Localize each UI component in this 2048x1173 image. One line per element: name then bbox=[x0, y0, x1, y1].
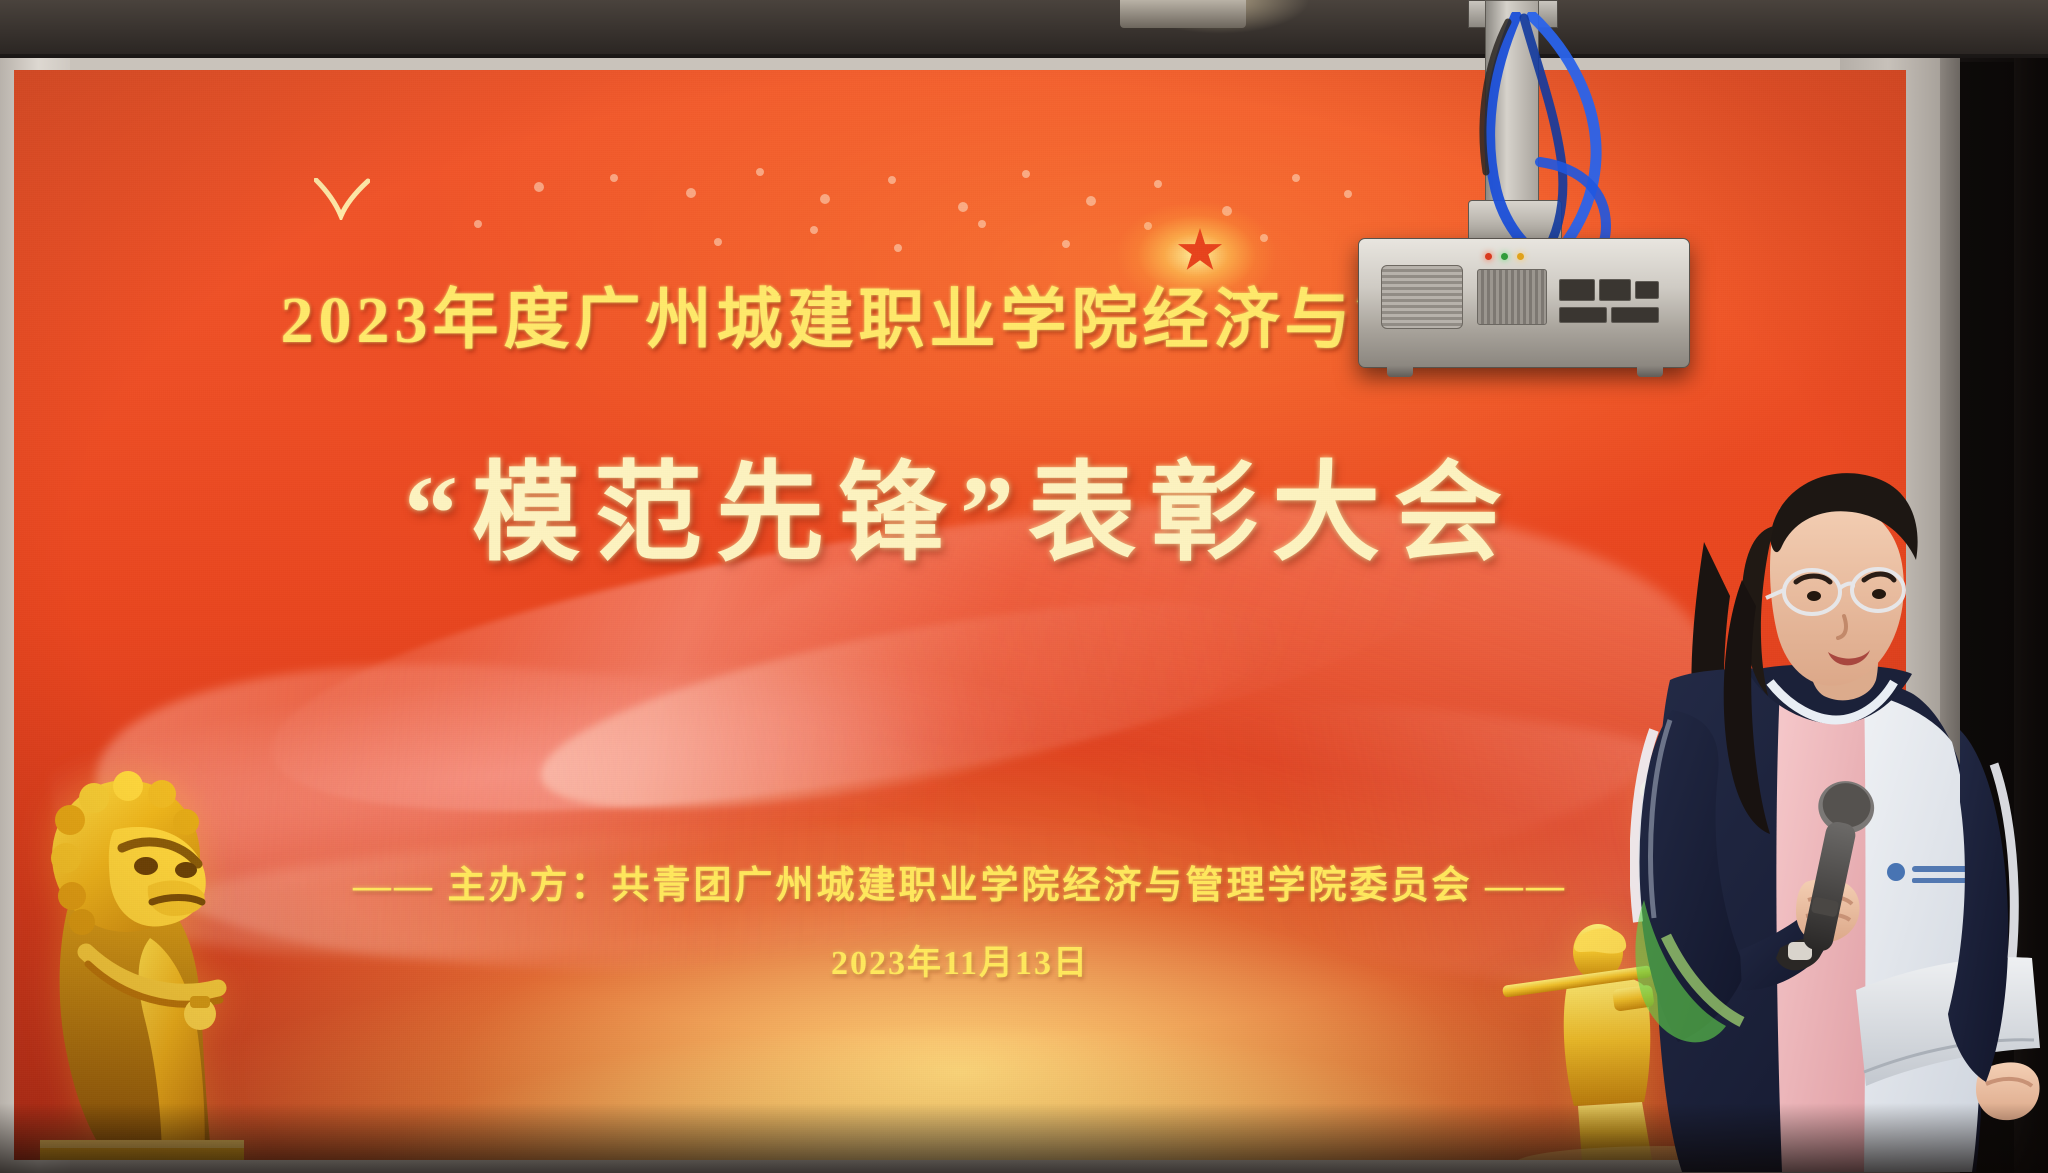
confetti-dot bbox=[714, 238, 722, 246]
student-speaker bbox=[1630, 430, 2048, 1173]
ceiling-panel bbox=[1660, 0, 1871, 54]
confetti-dot bbox=[958, 202, 968, 212]
confetti-dot bbox=[686, 188, 696, 198]
projector-status-led bbox=[1501, 253, 1508, 260]
guardian-lion-statue bbox=[22, 670, 252, 1160]
projector-port-lan bbox=[1611, 307, 1659, 323]
confetti-dot bbox=[1022, 170, 1030, 178]
confetti-dot bbox=[820, 194, 830, 204]
ceiling-panel bbox=[400, 0, 611, 54]
ceiling-panel bbox=[1870, 0, 2048, 54]
confetti-dot bbox=[1062, 240, 1070, 248]
screenshot-root: 2023年度广州城建职业学院经济与管理学院 “模范先锋”表彰大会 —— 主办方：… bbox=[0, 0, 2048, 1173]
presentation-slide: 2023年度广州城建职业学院经济与管理学院 “模范先锋”表彰大会 —— 主办方：… bbox=[14, 70, 1906, 1160]
projector-vent bbox=[1477, 269, 1547, 325]
confetti-dot bbox=[756, 168, 764, 176]
projector-port-hdmi bbox=[1559, 279, 1595, 301]
confetti-dot bbox=[894, 244, 902, 252]
ceiling-panel bbox=[820, 0, 1031, 54]
floor-shadow bbox=[0, 1103, 2048, 1173]
ceiling-projector bbox=[1358, 238, 1690, 368]
confetti-dot bbox=[1292, 174, 1300, 182]
projector-power-led bbox=[1485, 253, 1492, 260]
confetti-dot bbox=[810, 226, 818, 234]
confetti-dot bbox=[610, 174, 618, 182]
confetti-dot bbox=[534, 182, 544, 192]
confetti-dot bbox=[474, 220, 482, 228]
projector-foot bbox=[1637, 365, 1663, 377]
silk-ribbon-swirl bbox=[527, 559, 1302, 851]
confetti-dot bbox=[978, 220, 986, 228]
ceiling-panel bbox=[190, 0, 401, 54]
slide-host-line: —— 主办方：共青团广州城建职业学院经济与管理学院委员会 —— bbox=[14, 854, 1906, 909]
slide-date: 2023年11月13日 bbox=[14, 935, 1906, 984]
projector-speaker-grill bbox=[1381, 265, 1463, 329]
confetti-dot bbox=[888, 176, 896, 184]
projector-lamp-led bbox=[1517, 253, 1524, 260]
ceiling-light-fixture bbox=[1120, 0, 1246, 28]
projector-port-vga bbox=[1599, 279, 1631, 301]
confetti-dot bbox=[1154, 180, 1162, 188]
projector-port-usb bbox=[1635, 281, 1659, 299]
slide-subtitle: “模范先锋”表彰大会 bbox=[14, 426, 1906, 582]
flying-bird-icon bbox=[314, 178, 370, 220]
projector-port-audio bbox=[1559, 307, 1607, 323]
ceiling-panel bbox=[0, 0, 191, 54]
projector-foot bbox=[1387, 365, 1413, 377]
ceiling-panel bbox=[610, 0, 821, 54]
confetti-dot bbox=[1344, 190, 1352, 198]
